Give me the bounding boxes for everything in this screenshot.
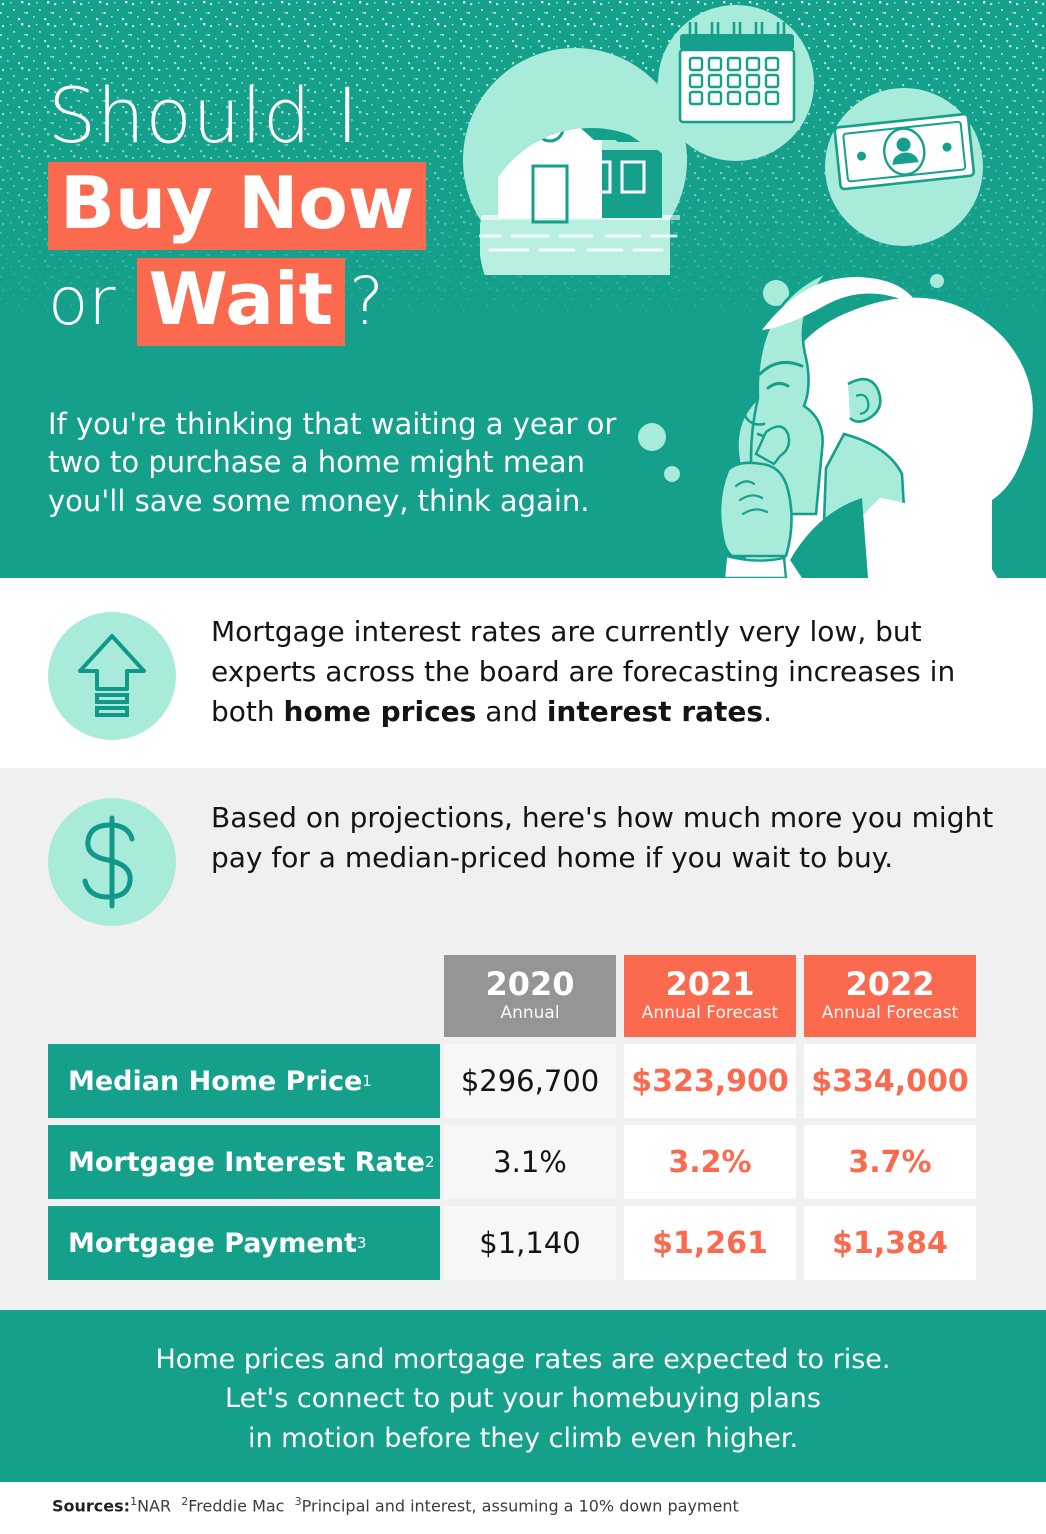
cell-value: $1,261 — [624, 1206, 796, 1280]
cta-line-2: Let's connect to put your homebuying pla… — [0, 1379, 1046, 1418]
cell-median-2021: $323,900 — [624, 1044, 796, 1118]
hero-section: Should I Buy Now or Wait? If you're thin… — [0, 0, 1046, 578]
cell-payment-2020: $1,140 — [444, 1206, 616, 1280]
row-label-text: Median Home Price — [68, 1066, 362, 1097]
row-label-text: Mortgage Interest Rate — [68, 1147, 425, 1178]
cell-value: 3.1% — [444, 1125, 616, 1199]
title-line-1: Should I — [48, 78, 648, 154]
point1-text-mid: and — [476, 695, 546, 728]
header-sub-2020: Annual — [500, 1004, 559, 1024]
header-sub-2021: Annual Forecast — [642, 1004, 778, 1024]
header-col-2022: 2022 Annual Forecast — [804, 955, 976, 1037]
cell-value: $1,140 — [444, 1206, 616, 1280]
header-year-2021: 2021 — [665, 968, 754, 1002]
title-or-word: or — [48, 263, 116, 340]
point-projections: Based on projections, here's how much mo… — [48, 798, 1008, 926]
header-col-2020: 2020 Annual — [444, 955, 616, 1037]
dollar-sign-icon — [75, 815, 149, 909]
row-label-mortgage-interest-rate: Mortgage Interest Rate2 — [48, 1125, 440, 1199]
header-year-2020: 2020 — [485, 968, 574, 1002]
title-line-3: or Wait? — [48, 258, 648, 346]
thinking-person-illustration — [720, 272, 1033, 578]
cell-median-2020: $296,700 — [444, 1044, 616, 1118]
cell-value: $323,900 — [624, 1044, 796, 1118]
header-sub-2022: Annual Forecast — [822, 1004, 958, 1024]
point1-bold-interest-rates: interest rates — [547, 695, 763, 728]
cell-payment-2022: $1,384 — [804, 1206, 976, 1280]
row-label-mortgage-payment: Mortgage Payment3 — [48, 1206, 440, 1280]
point1-text-post: . — [763, 695, 772, 728]
cta-line-3: in motion before they climb even higher. — [0, 1419, 1046, 1458]
source-2: Freddie Mac — [188, 1496, 284, 1515]
row-label-text: Mortgage Payment — [68, 1228, 357, 1259]
source-1: NAR — [137, 1496, 171, 1515]
dollar-icon-circle — [48, 798, 176, 926]
cell-rate-2020: 3.1% — [444, 1125, 616, 1199]
up-arrow-icon-circle — [48, 612, 176, 740]
cta-line-1: Home prices and mortgage rates are expec… — [0, 1340, 1046, 1379]
source-marker-1: 1 — [130, 1495, 137, 1508]
title-line-2: Buy Now — [48, 162, 648, 250]
infographic-page: Should I Buy Now or Wait? If you're thin… — [0, 0, 1046, 1534]
header-year-2022: 2022 — [845, 968, 934, 1002]
wait-highlight: Wait — [137, 258, 346, 346]
cell-rate-2021: 3.2% — [624, 1125, 796, 1199]
source-3: Principal and interest, assuming a 10% d… — [302, 1496, 739, 1515]
hero-title-block: Should I Buy Now or Wait? — [48, 78, 648, 346]
sources-label: Sources: — [52, 1496, 130, 1515]
cell-value: 3.2% — [624, 1125, 796, 1199]
projection-table: 2020 Annual 2021 Annual Forecast 2022 An… — [48, 955, 1000, 1280]
point1-bold-home-prices: home prices — [284, 695, 477, 728]
point-interest-rates: Mortgage interest rates are currently ve… — [48, 612, 988, 740]
calendar-thought-bubble — [658, 5, 814, 161]
cell-value: $296,700 — [444, 1044, 616, 1118]
cta-text: Home prices and mortgage rates are expec… — [0, 1340, 1046, 1458]
buy-now-highlight: Buy Now — [48, 162, 426, 250]
sources-footer: Sources:1NAR 2Freddie Mac 3Principal and… — [52, 1495, 739, 1515]
cell-payment-2021: $1,261 — [624, 1206, 796, 1280]
money-thought-bubble — [825, 88, 983, 246]
table-row: Median Home Price1 $296,700 $323,900 $33… — [48, 1044, 1000, 1118]
table-header-row: 2020 Annual 2021 Annual Forecast 2022 An… — [48, 955, 1000, 1037]
cell-value: $1,384 — [804, 1206, 976, 1280]
cell-value: $334,000 — [804, 1044, 976, 1118]
cell-value: 3.7% — [804, 1125, 976, 1199]
point-projections-text: Based on projections, here's how much mo… — [211, 798, 1008, 878]
point-interest-rates-text: Mortgage interest rates are currently ve… — [211, 612, 988, 731]
hero-subtitle: If you're thinking that waiting a year o… — [48, 405, 618, 520]
table-row: Mortgage Interest Rate2 3.1% 3.2% 3.7% — [48, 1125, 1000, 1199]
source-marker-3: 3 — [295, 1495, 302, 1508]
up-arrow-icon — [74, 631, 150, 721]
cell-median-2022: $334,000 — [804, 1044, 976, 1118]
cell-rate-2022: 3.7% — [804, 1125, 976, 1199]
header-col-2021: 2021 Annual Forecast — [624, 955, 796, 1037]
row-label-median-home-price: Median Home Price1 — [48, 1044, 440, 1118]
title-question-mark: ? — [349, 263, 384, 340]
table-row: Mortgage Payment3 $1,140 $1,261 $1,384 — [48, 1206, 1000, 1280]
header-label-spacer — [48, 955, 440, 956]
